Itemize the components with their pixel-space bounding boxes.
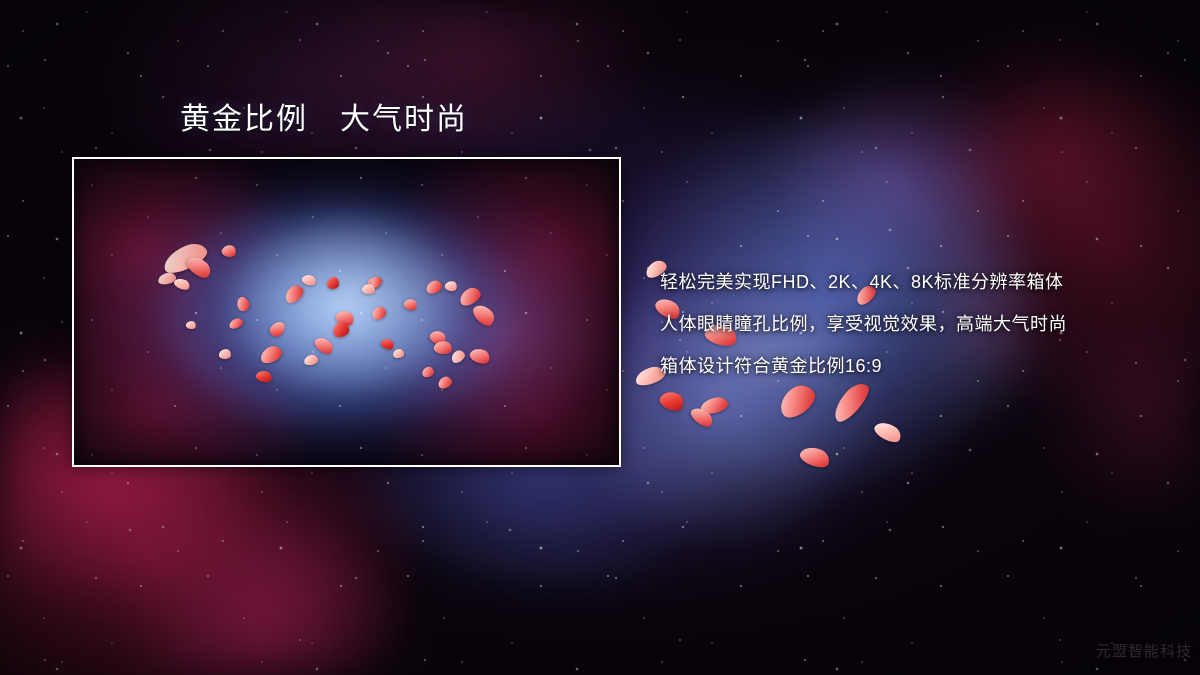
watermark-brand: 元盟智能科技 <box>1096 640 1192 661</box>
slide-title: 黄金比例 大气时尚 <box>180 101 468 139</box>
body-line-2: 人体眼睛瞳孔比例，享受视觉效果，高端大气时尚 <box>660 303 1150 345</box>
figure-vignette <box>74 159 619 465</box>
presentation-slide: 黄金比例 大气时尚 <box>0 0 1200 675</box>
body-line-3: 箱体设计符合黄金比例16:9 <box>660 345 1150 387</box>
figure-frame <box>72 157 621 467</box>
figure-image <box>74 159 619 465</box>
body-text-block: 轻松完美实现FHD、2K、4K、8K标准分辨率箱体 人体眼睛瞳孔比例，享受视觉效… <box>660 261 1150 387</box>
body-line-1: 轻松完美实现FHD、2K、4K、8K标准分辨率箱体 <box>660 261 1150 303</box>
